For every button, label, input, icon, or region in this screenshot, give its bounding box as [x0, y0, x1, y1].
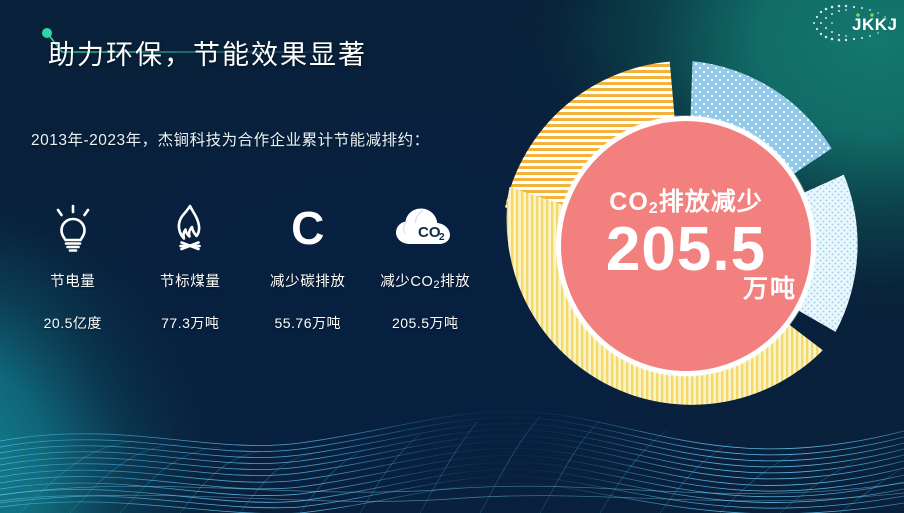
stats-row: 节电量 20.5亿度 节标煤量 77.3万吨 C: [14, 200, 484, 333]
page-title-text: 助力环保，节能效果显著: [48, 42, 367, 69]
stat-value-coal: 77.3万吨: [161, 313, 219, 333]
carbon-c-icon: C: [291, 200, 324, 256]
co2-cloud-icon: CO 2: [393, 200, 457, 256]
donut-center-title-main: CO: [609, 188, 649, 216]
donut-center-number: 205.5: [606, 219, 766, 281]
company-logo: JKKJ: [800, 0, 904, 46]
stat-item-coal[interactable]: 节标煤量 77.3万吨: [132, 200, 250, 333]
svg-text:2: 2: [439, 232, 445, 243]
svg-text:CO: CO: [418, 224, 441, 241]
stat-label-co2-main: 减少CO: [380, 274, 433, 290]
stat-label-co2: 减少CO2排放: [380, 270, 470, 291]
intro-paragraph: 2013年-2023年，杰锏科技为合作企业累计节能减排约：: [31, 126, 481, 155]
stat-item-carbon[interactable]: C 减少碳排放 55.76万吨: [249, 200, 367, 333]
stat-label-co2-tail: 排放: [440, 274, 470, 290]
stat-item-electricity[interactable]: 节电量 20.5亿度: [14, 200, 132, 333]
stat-item-co2[interactable]: CO 2 减少CO2排放 205.5万吨: [367, 200, 485, 333]
stat-label-electricity: 节电量: [50, 270, 95, 291]
donut-center-callout: CO2排放减少 205.5 万吨: [556, 116, 816, 376]
flame-icon: [167, 200, 213, 256]
donut-chart: CO2排放减少 205.5 万吨: [486, 46, 886, 446]
donut-center-unit: 万吨: [743, 277, 797, 302]
stat-value-electricity: 20.5亿度: [44, 313, 102, 333]
stat-value-co2: 205.5万吨: [392, 313, 459, 333]
stat-label-coal: 节标煤量: [160, 270, 220, 291]
donut-center-title: CO2排放减少: [609, 190, 762, 217]
presentation-slide: JKKJ 助力环保，节能效果显著 2013年-2023年，杰锏科技为合作企业累计…: [0, 0, 904, 513]
logo-wordmark: JKKJ: [852, 15, 897, 34]
donut-center-title-tail: 排放减少: [659, 188, 763, 216]
stat-label-carbon: 减少碳排放: [270, 270, 346, 291]
page-title: 助力环保，节能效果显著: [48, 42, 367, 69]
lightbulb-icon: [50, 200, 96, 256]
stat-value-carbon: 55.76万吨: [274, 313, 341, 333]
